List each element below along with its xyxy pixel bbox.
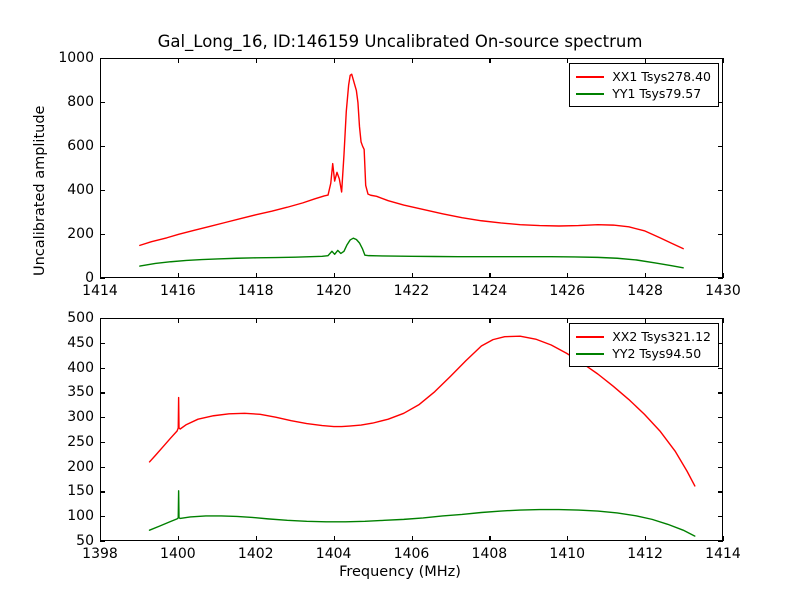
legend-label-yy2: YY2 Tsys94.50 — [612, 346, 701, 361]
x-tick-mark — [334, 536, 335, 541]
bottom-plot-axes: XX2 Tsys321.12 YY2 Tsys94.50 — [100, 318, 723, 541]
x-tick-mark — [256, 58, 257, 63]
bottom-plot-legend: XX2 Tsys321.12 YY2 Tsys94.50 — [569, 323, 719, 367]
y-tick-label: 450 — [42, 335, 94, 351]
x-tick-mark — [178, 273, 179, 278]
top-plot-legend: XX1 Tsys278.40 YY1 Tsys79.57 — [569, 63, 719, 107]
x-tick-label: 1430 — [705, 283, 741, 299]
x-tick-mark — [567, 536, 568, 541]
y-tick-label: 300 — [42, 409, 94, 425]
y-tick-mark — [100, 516, 105, 517]
y-tick-mark — [100, 491, 105, 492]
legend-label-xx1: XX1 Tsys278.40 — [612, 69, 711, 84]
x-tick-mark — [334, 58, 335, 63]
y-tick-label: 350 — [42, 384, 94, 400]
figure-canvas: Gal_Long_16, ID:146159 Uncalibrated On-s… — [0, 0, 800, 600]
y-tick-label: 600 — [42, 138, 94, 154]
series-line — [150, 491, 695, 536]
y-tick-mark — [718, 190, 723, 191]
y-tick-mark — [718, 102, 723, 103]
y-tick-mark — [100, 467, 105, 468]
y-tick-label: 100 — [42, 508, 94, 524]
y-tick-mark — [718, 278, 723, 279]
x-tick-label: 1416 — [160, 283, 196, 299]
y-tick-mark — [718, 442, 723, 443]
y-tick-mark — [718, 58, 723, 59]
x-tick-label: 1408 — [472, 546, 508, 562]
legend-item: XX2 Tsys321.12 — [576, 328, 711, 345]
x-tick-mark — [412, 536, 413, 541]
y-tick-mark — [100, 392, 105, 393]
y-tick-label: 400 — [42, 182, 94, 198]
y-tick-mark — [718, 392, 723, 393]
x-tick-label: 1412 — [627, 546, 663, 562]
x-tick-mark — [489, 58, 490, 63]
page-title: Gal_Long_16, ID:146159 Uncalibrated On-s… — [0, 32, 800, 51]
x-tick-mark — [178, 318, 179, 323]
x-tick-label: 1400 — [160, 546, 196, 562]
x-tick-mark — [723, 58, 724, 63]
y-tick-mark — [100, 368, 105, 369]
y-tick-mark — [100, 318, 105, 319]
y-tick-label: 400 — [42, 360, 94, 376]
y-tick-mark — [718, 541, 723, 542]
y-tick-mark — [718, 343, 723, 344]
x-tick-mark — [178, 58, 179, 63]
legend-swatch-yy1 — [576, 93, 604, 95]
y-tick-mark — [100, 442, 105, 443]
x-tick-mark — [645, 536, 646, 541]
y-tick-label: 200 — [42, 226, 94, 242]
x-tick-label: 1426 — [549, 283, 585, 299]
x-tick-mark — [645, 273, 646, 278]
x-tick-mark — [645, 58, 646, 63]
legend-item: YY2 Tsys94.50 — [576, 345, 711, 362]
x-tick-mark — [489, 318, 490, 323]
y-tick-label: 250 — [42, 434, 94, 450]
y-tick-label: 800 — [42, 94, 94, 110]
x-tick-mark — [178, 536, 179, 541]
x-tick-mark — [723, 536, 724, 541]
x-tick-label: 1402 — [238, 546, 274, 562]
x-tick-label: 1418 — [238, 283, 274, 299]
legend-swatch-xx2 — [576, 336, 604, 338]
x-tick-mark — [256, 318, 257, 323]
y-tick-mark — [100, 541, 105, 542]
x-tick-mark — [567, 318, 568, 323]
x-tick-label: 1406 — [394, 546, 430, 562]
y-tick-label: 0 — [42, 270, 94, 286]
y-tick-label: 1000 — [42, 50, 94, 66]
legend-label-yy1: YY1 Tsys79.57 — [612, 86, 701, 101]
x-tick-label: 1420 — [316, 283, 352, 299]
y-tick-mark — [100, 190, 105, 191]
x-tick-label: 1410 — [549, 546, 585, 562]
y-tick-mark — [718, 467, 723, 468]
x-tick-mark — [567, 273, 568, 278]
x-tick-mark — [489, 536, 490, 541]
x-tick-mark — [645, 318, 646, 323]
y-tick-label: 200 — [42, 459, 94, 475]
x-tick-mark — [412, 58, 413, 63]
legend-item: YY1 Tsys79.57 — [576, 85, 711, 102]
y-tick-mark — [718, 368, 723, 369]
y-tick-label: 500 — [42, 310, 94, 326]
y-tick-mark — [100, 102, 105, 103]
x-tick-label: 1414 — [705, 546, 741, 562]
y-tick-mark — [100, 146, 105, 147]
x-tick-label: 1422 — [394, 283, 430, 299]
x-tick-mark — [723, 318, 724, 323]
series-line — [140, 238, 683, 268]
legend-swatch-yy2 — [576, 353, 604, 355]
x-axis-label: Frequency (MHz) — [0, 564, 800, 580]
y-tick-mark — [718, 491, 723, 492]
x-tick-mark — [723, 273, 724, 278]
legend-swatch-xx1 — [576, 76, 604, 78]
x-tick-mark — [412, 318, 413, 323]
y-tick-mark — [100, 234, 105, 235]
x-tick-label: 1404 — [316, 546, 352, 562]
y-tick-label: 150 — [42, 483, 94, 499]
x-tick-mark — [256, 536, 257, 541]
y-tick-mark — [718, 146, 723, 147]
y-tick-mark — [718, 318, 723, 319]
x-tick-mark — [256, 273, 257, 278]
y-tick-mark — [100, 278, 105, 279]
y-tick-mark — [718, 516, 723, 517]
top-plot-axes: XX1 Tsys278.40 YY1 Tsys79.57 — [100, 58, 723, 278]
x-tick-mark — [567, 58, 568, 63]
x-tick-label: 1428 — [627, 283, 663, 299]
y-tick-mark — [100, 343, 105, 344]
x-tick-mark — [489, 273, 490, 278]
legend-item: XX1 Tsys278.40 — [576, 68, 711, 85]
y-tick-mark — [100, 58, 105, 59]
x-tick-label: 1424 — [472, 283, 508, 299]
y-tick-mark — [718, 417, 723, 418]
legend-label-xx2: XX2 Tsys321.12 — [612, 329, 711, 344]
x-tick-mark — [334, 273, 335, 278]
x-tick-mark — [412, 273, 413, 278]
x-tick-mark — [334, 318, 335, 323]
y-tick-mark — [718, 234, 723, 235]
y-tick-label: 50 — [42, 533, 94, 549]
y-tick-mark — [100, 417, 105, 418]
